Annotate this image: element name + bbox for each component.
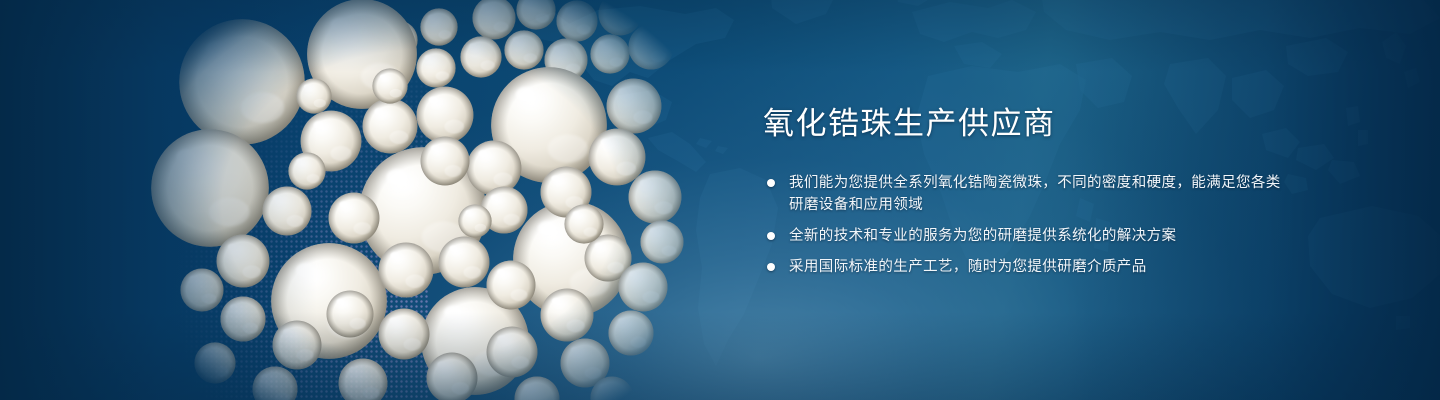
- feature-text: 我们能为您提供全系列氧化锆陶瓷微珠，不同的密度和硬度，能满足您各类研磨设备和应用…: [789, 172, 1283, 216]
- feature-text: 采用国际标准的生产工艺，随时为您提供研磨介质产品: [789, 256, 1283, 278]
- banner-headline: 氧化锆珠生产供应商: [763, 104, 1283, 144]
- feature-list-item: 全新的技术和专业的服务为您的研磨提供系统化的解决方案: [763, 225, 1283, 247]
- feature-list-item: 采用国际标准的生产工艺，随时为您提供研磨介质产品: [763, 256, 1283, 278]
- bullet-dot-icon: [767, 263, 775, 271]
- bullet-dot-icon: [767, 179, 775, 187]
- bullet-dot-icon: [767, 232, 775, 240]
- feature-list-item: 我们能为您提供全系列氧化锆陶瓷微珠，不同的密度和硬度，能满足您各类研磨设备和应用…: [763, 172, 1283, 216]
- feature-list: 我们能为您提供全系列氧化锆陶瓷微珠，不同的密度和硬度，能满足您各类研磨设备和应用…: [763, 172, 1283, 278]
- hero-banner: 氧化锆珠生产供应商 我们能为您提供全系列氧化锆陶瓷微珠，不同的密度和硬度，能满足…: [0, 0, 1440, 400]
- feature-text: 全新的技术和专业的服务为您的研磨提供系统化的解决方案: [789, 225, 1283, 247]
- banner-copy: 氧化锆珠生产供应商 我们能为您提供全系列氧化锆陶瓷微珠，不同的密度和硬度，能满足…: [763, 104, 1283, 278]
